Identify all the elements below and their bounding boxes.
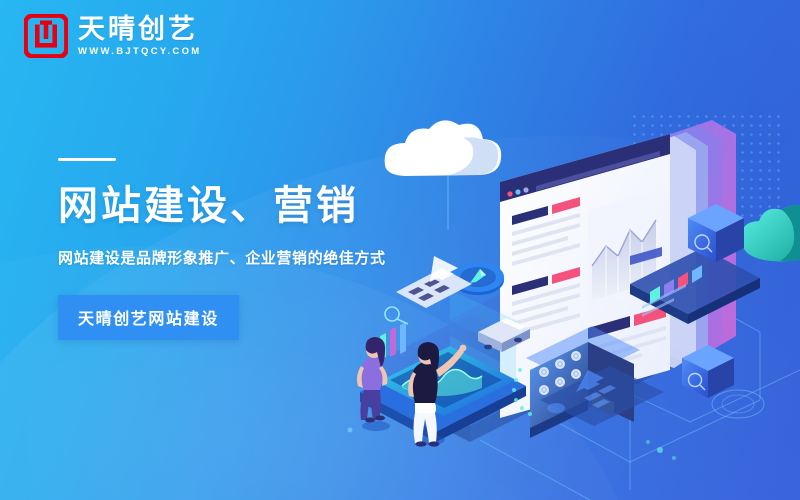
accent-rule	[58, 158, 116, 161]
isometric-web-development-scene	[330, 70, 800, 500]
accent-glow-dots	[348, 428, 677, 461]
hero-banner: 天晴创艺 WWW.BJTQCY.COM 网站建设、营销 网站建设是品牌形象推广、…	[0, 0, 800, 500]
brand-name: 天晴创艺	[78, 15, 202, 43]
tqcy-square-logo-icon	[24, 14, 68, 58]
brand-logo[interactable]: 天晴创艺 WWW.BJTQCY.COM	[24, 14, 202, 58]
cloud-shape-teal	[741, 205, 800, 262]
brand-website: WWW.BJTQCY.COM	[78, 46, 202, 57]
cta-button[interactable]: 天晴创艺网站建设	[58, 295, 239, 340]
cloud-shape-white	[385, 120, 502, 230]
